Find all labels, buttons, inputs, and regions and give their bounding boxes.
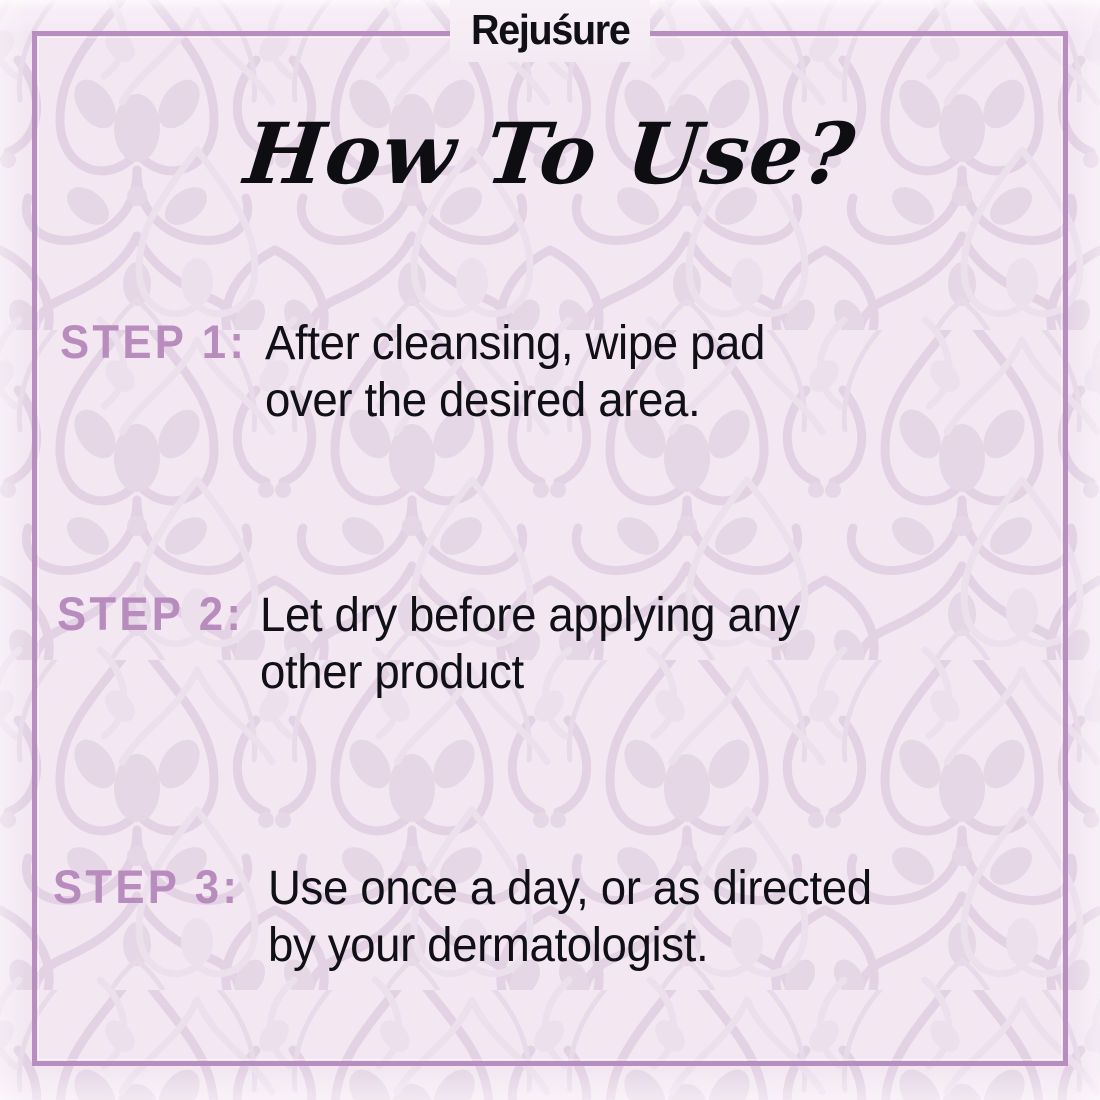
steps-list: STEP 1: After cleansing, wipe pad over t…: [0, 0, 1100, 1100]
step-item-1: STEP 1: After cleansing, wipe pad over t…: [60, 316, 792, 429]
step-item-2: STEP 2: Let dry before applying any othe…: [57, 588, 829, 701]
step-text-3: Use once a day, or as directed by your d…: [268, 861, 872, 974]
step-text-2: Let dry before applying any other produc…: [260, 588, 800, 701]
step-label-1: STEP 1:: [60, 316, 247, 369]
step-text-1: After cleansing, wipe pad over the desir…: [265, 316, 765, 429]
step-label-3: STEP 3:: [53, 861, 240, 914]
step-item-3: STEP 3: Use once a day, or as directed b…: [53, 861, 904, 974]
step-label-2: STEP 2:: [57, 588, 244, 641]
how-to-use-card: Rejuśure How To Use? STEP 1: After clean…: [0, 0, 1100, 1100]
